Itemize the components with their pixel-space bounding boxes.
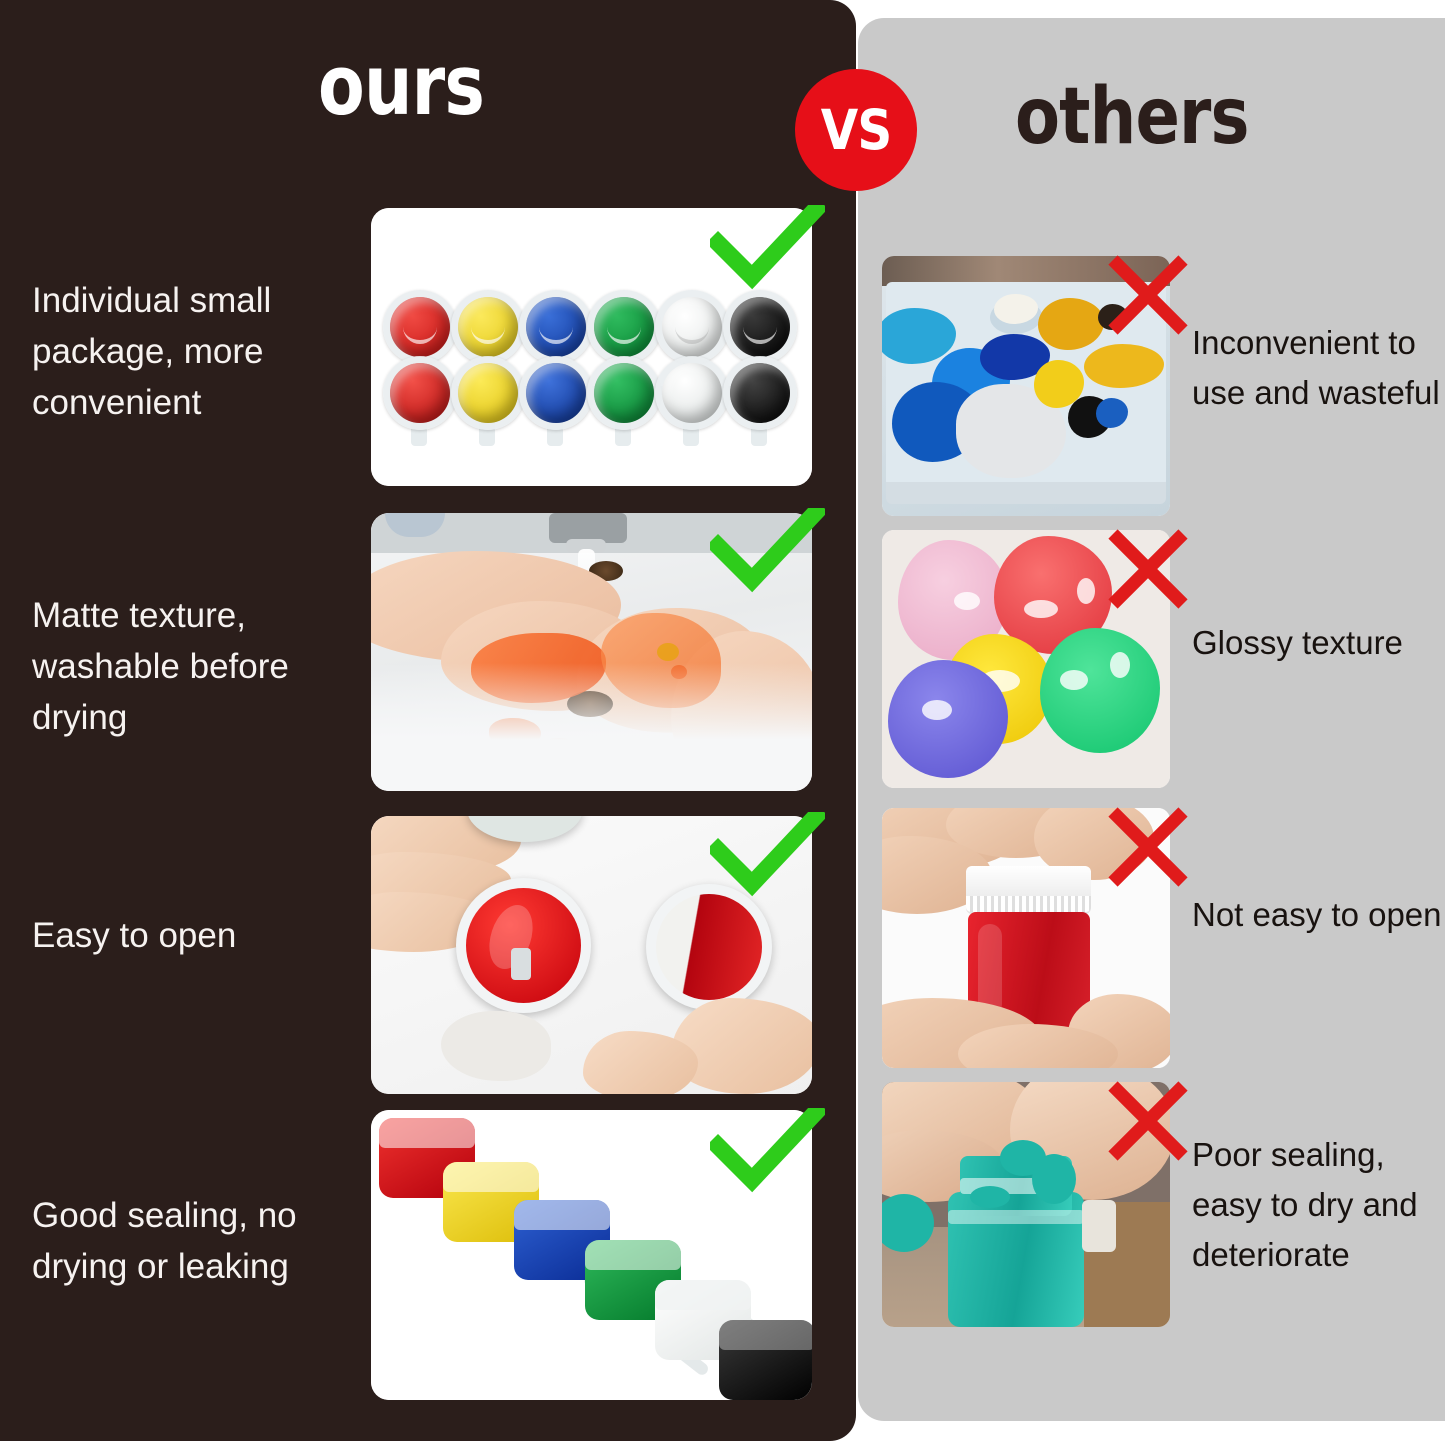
ours-feature-label-3: Easy to open xyxy=(32,910,342,961)
vs-badge: VS xyxy=(795,69,917,191)
others-feature-label-3: Not easy to open xyxy=(1192,890,1442,940)
others-feature-label-1: Inconvenient to use and wasteful xyxy=(1192,318,1442,418)
cross-icon xyxy=(1105,1078,1191,1164)
vs-label: VS xyxy=(821,103,892,158)
others-title: others xyxy=(1015,78,1249,156)
comparison-infographic: ours others VS Individual small package,… xyxy=(0,0,1445,1450)
others-feature-label-2: Glossy texture xyxy=(1192,618,1442,668)
cross-icon xyxy=(1105,804,1191,890)
cross-icon xyxy=(1105,526,1191,612)
check-icon xyxy=(710,205,825,290)
ours-title: ours xyxy=(318,44,484,127)
ours-feature-label-2: Matte texture, washable before drying xyxy=(32,590,342,743)
check-icon xyxy=(710,508,825,593)
check-icon xyxy=(710,1108,825,1193)
check-icon xyxy=(710,812,825,897)
others-feature-label-4: Poor sealing, easy to dry and deteriorat… xyxy=(1192,1130,1442,1280)
ours-feature-label-1: Individual small package, more convenien… xyxy=(32,275,342,428)
ours-feature-label-4: Good sealing, no drying or leaking xyxy=(32,1190,342,1292)
cross-icon xyxy=(1105,252,1191,338)
